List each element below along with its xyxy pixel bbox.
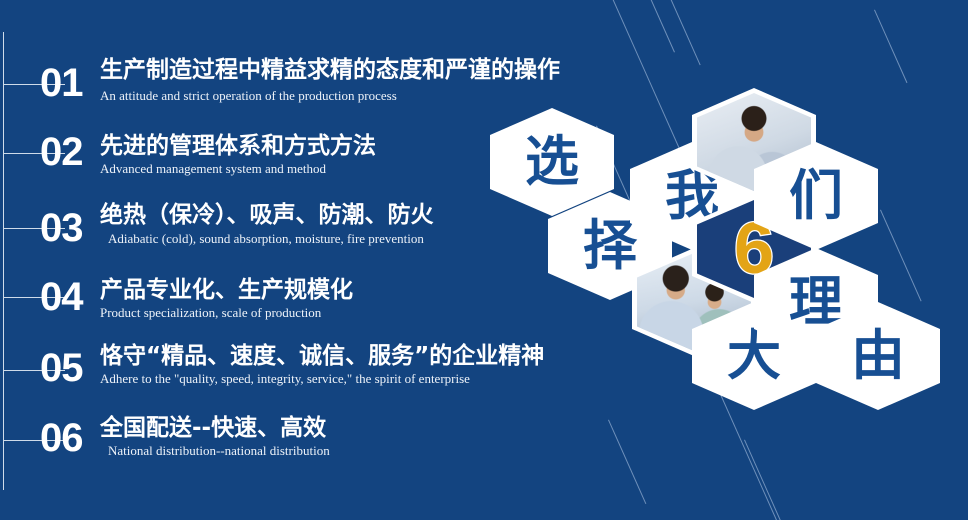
reason-title-en-02: Advanced management system and method [100,161,326,176]
hex-men: 们 [754,142,878,250]
reason-title-en-04: Product specialization, scale of product… [100,305,321,320]
hex-you: 由 [816,302,940,410]
hex-men-glyph: 们 [789,169,843,223]
reason-title-cn-03: 绝热（保冷）、吸声、防潮、防火 [100,202,434,228]
reason-number-05: 05 [40,348,83,388]
left-rail [3,32,4,490]
hex-ze-glyph: 择 [583,219,637,273]
reason-number-04: 04 [40,277,83,317]
poster-canvas: 01 生产制造过程中精益求精的态度和严谨的操作 An attitude and … [0,0,968,520]
reason-title-en-05: Adhere to the "quality, speed, integrity… [100,371,470,386]
reason-title-en-06: National distribution--national distribu… [108,443,330,458]
diagonal-line-2 [648,0,675,52]
reason-title-cn-06: 全国配送--快速、高效 [100,415,326,441]
reason-number-06: 06 [40,418,83,458]
hex-you-glyph: 由 [851,329,905,383]
reason-number-03: 03 [40,208,83,248]
diagonal-line-8 [744,440,789,520]
hex-xuan-glyph: 选 [525,135,579,189]
reason-number-02: 02 [40,132,83,172]
reason-title-cn-02: 先进的管理体系和方式方法 [100,133,376,159]
reason-title-en-03: Adiabatic (cold), sound absorption, mois… [108,231,424,246]
hexagon-headline-group: 选 择 我 [470,80,968,420]
diagonal-line-9 [608,420,646,504]
reason-title-cn-04: 产品专业化、生产规模化 [100,277,353,303]
diagonal-line-5 [874,10,907,83]
reason-number-01: 01 [40,63,83,103]
diagonal-line-3 [668,0,701,65]
reason-title-en-01: An attitude and strict operation of the … [100,88,397,103]
